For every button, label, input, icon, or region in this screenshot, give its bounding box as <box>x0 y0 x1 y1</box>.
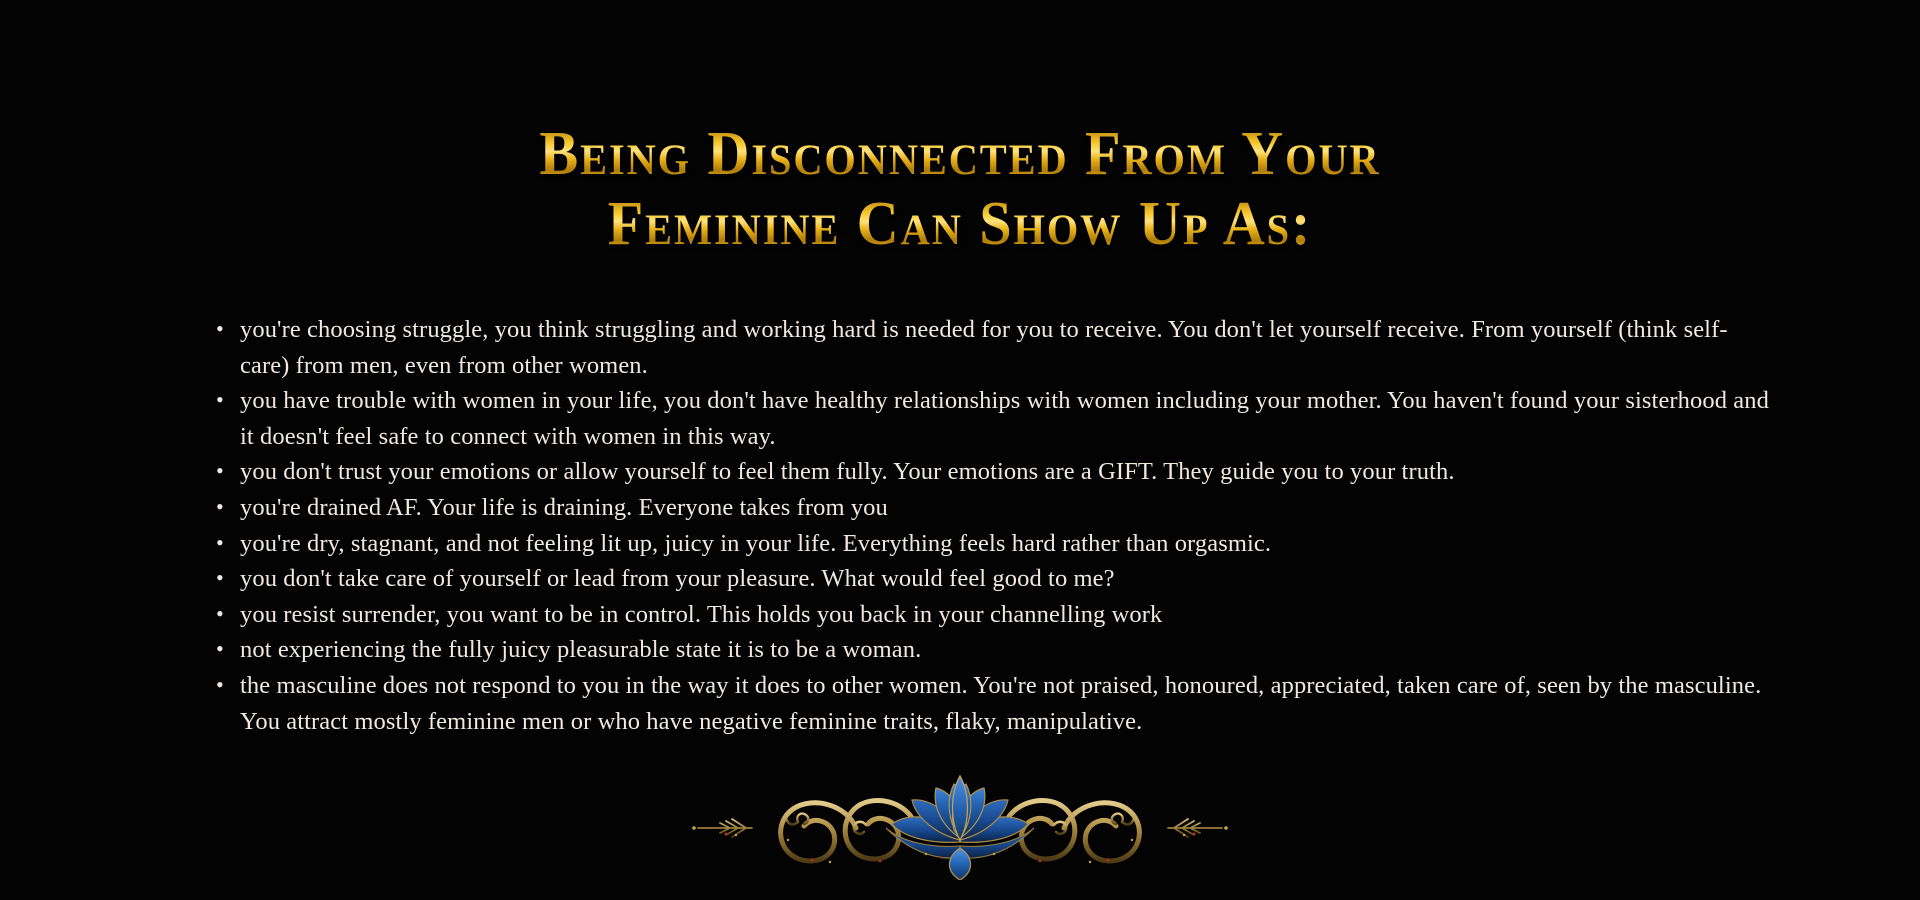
list-item: you're choosing struggle, you think stru… <box>216 312 1776 383</box>
list-item: you resist surrender, you want to be in … <box>216 597 1776 633</box>
bullet-content-area: you're choosing struggle, you think stru… <box>216 312 1776 739</box>
list-item: you have trouble with women in your life… <box>216 383 1776 454</box>
bullet-list: you're choosing struggle, you think stru… <box>216 312 1776 739</box>
title-line-1: Being Disconnected From Your <box>58 120 1863 188</box>
list-item: you're dry, stagnant, and not feeling li… <box>216 526 1776 562</box>
list-item: you don't trust your emotions or allow y… <box>216 454 1776 490</box>
lotus-serpent-divider-icon <box>680 768 1240 880</box>
page-title: Being Disconnected From Your Feminine Ca… <box>0 120 1920 258</box>
list-item: the masculine does not respond to you in… <box>216 668 1776 739</box>
list-item: not experiencing the fully juicy pleasur… <box>216 632 1776 668</box>
list-item: you don't take care of yourself or lead … <box>216 561 1776 597</box>
lotus-flower <box>886 776 1034 880</box>
title-line-2: Feminine Can Show Up As: <box>58 190 1863 258</box>
list-item: you're drained AF. Your life is draining… <box>216 490 1776 526</box>
slide-canvas: Being Disconnected From Your Feminine Ca… <box>0 0 1920 900</box>
